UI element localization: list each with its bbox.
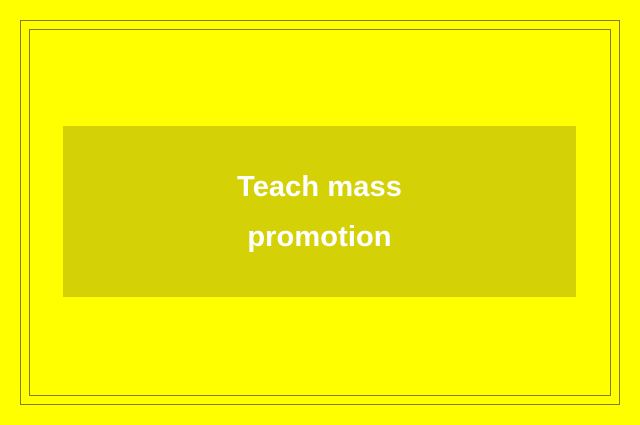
headline-panel: Teach mass promotion [63, 126, 576, 297]
poster-canvas: Teach mass promotion [0, 0, 640, 425]
headline-line-1: Teach mass [237, 162, 402, 212]
headline-line-2: promotion [247, 212, 391, 262]
